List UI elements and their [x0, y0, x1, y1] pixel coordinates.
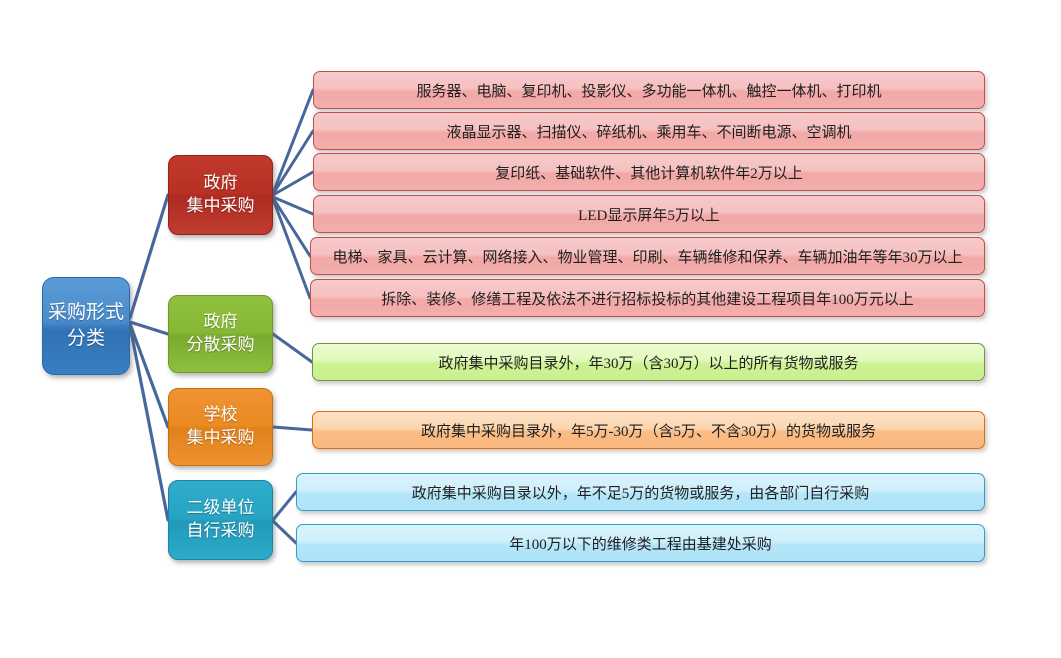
detail-box-gov-centralized-5[interactable]: 电梯、家具、云计算、网络接入、物业管理、印刷、车辆维修和保养、车辆加油年等年30…	[310, 237, 985, 275]
category-label-second-level-unit: 二级单位 自行采购	[187, 497, 255, 543]
detail-box-gov-centralized-2[interactable]: 液晶显示器、扫描仪、碎纸机、乘用车、不间断电源、空调机	[313, 112, 985, 150]
category-label-gov-decentralized: 政府 分散采购	[187, 311, 255, 357]
diagram-canvas: 采购形式 分类 政府 集中采购 政府 分散采购 学校 集中采购 二级单位 自行采…	[0, 0, 1061, 658]
connector-root-to-gov-centralized	[130, 195, 168, 318]
connector-root-to-gov-decentralized	[130, 322, 168, 334]
category-node-gov-decentralized[interactable]: 政府 分散采购	[168, 295, 273, 373]
connector-red-detail-4	[273, 197, 313, 214]
connector-root-to-school-centralized	[130, 324, 168, 427]
connector-green-detail-1	[273, 334, 312, 362]
connector-red-detail-5	[273, 198, 310, 256]
connector-orange-detail-1	[273, 427, 312, 430]
connector-blue-detail-2	[273, 521, 296, 543]
category-node-gov-centralized[interactable]: 政府 集中采购	[168, 155, 273, 235]
connector-root-to-second-level	[130, 326, 168, 520]
root-node-label: 采购形式 分类	[48, 300, 124, 351]
category-node-school-centralized[interactable]: 学校 集中采购	[168, 388, 273, 466]
detail-box-second-level-unit-2[interactable]: 年100万以下的维修类工程由基建处采购	[296, 524, 985, 562]
detail-box-gov-centralized-4[interactable]: LED显示屏年5万以上	[313, 195, 985, 233]
detail-box-gov-decentralized-1[interactable]: 政府集中采购目录外，年30万（含30万）以上的所有货物或服务	[312, 343, 985, 381]
category-label-gov-centralized: 政府 集中采购	[187, 172, 255, 218]
connector-blue-detail-1	[273, 492, 296, 520]
detail-box-gov-centralized-6[interactable]: 拆除、装修、修缮工程及依法不进行招标投标的其他建设工程项目年100万元以上	[310, 279, 985, 317]
root-node[interactable]: 采购形式 分类	[42, 277, 130, 375]
connector-red-detail-2	[273, 131, 313, 194]
detail-box-school-centralized-1[interactable]: 政府集中采购目录外，年5万-30万（含5万、不含30万）的货物或服务	[312, 411, 985, 449]
detail-box-second-level-unit-1[interactable]: 政府集中采购目录以外，年不足5万的货物或服务，由各部门自行采购	[296, 473, 985, 511]
connector-red-detail-6	[273, 199, 310, 298]
category-node-second-level-unit[interactable]: 二级单位 自行采购	[168, 480, 273, 560]
detail-box-gov-centralized-1[interactable]: 服务器、电脑、复印机、投影仪、多功能一体机、触控一体机、打印机	[313, 71, 985, 109]
connector-red-detail-1	[273, 90, 313, 193]
connector-red-detail-3	[273, 172, 313, 195]
detail-box-gov-centralized-3[interactable]: 复印纸、基础软件、其他计算机软件年2万以上	[313, 153, 985, 191]
category-label-school-centralized: 学校 集中采购	[187, 404, 255, 450]
